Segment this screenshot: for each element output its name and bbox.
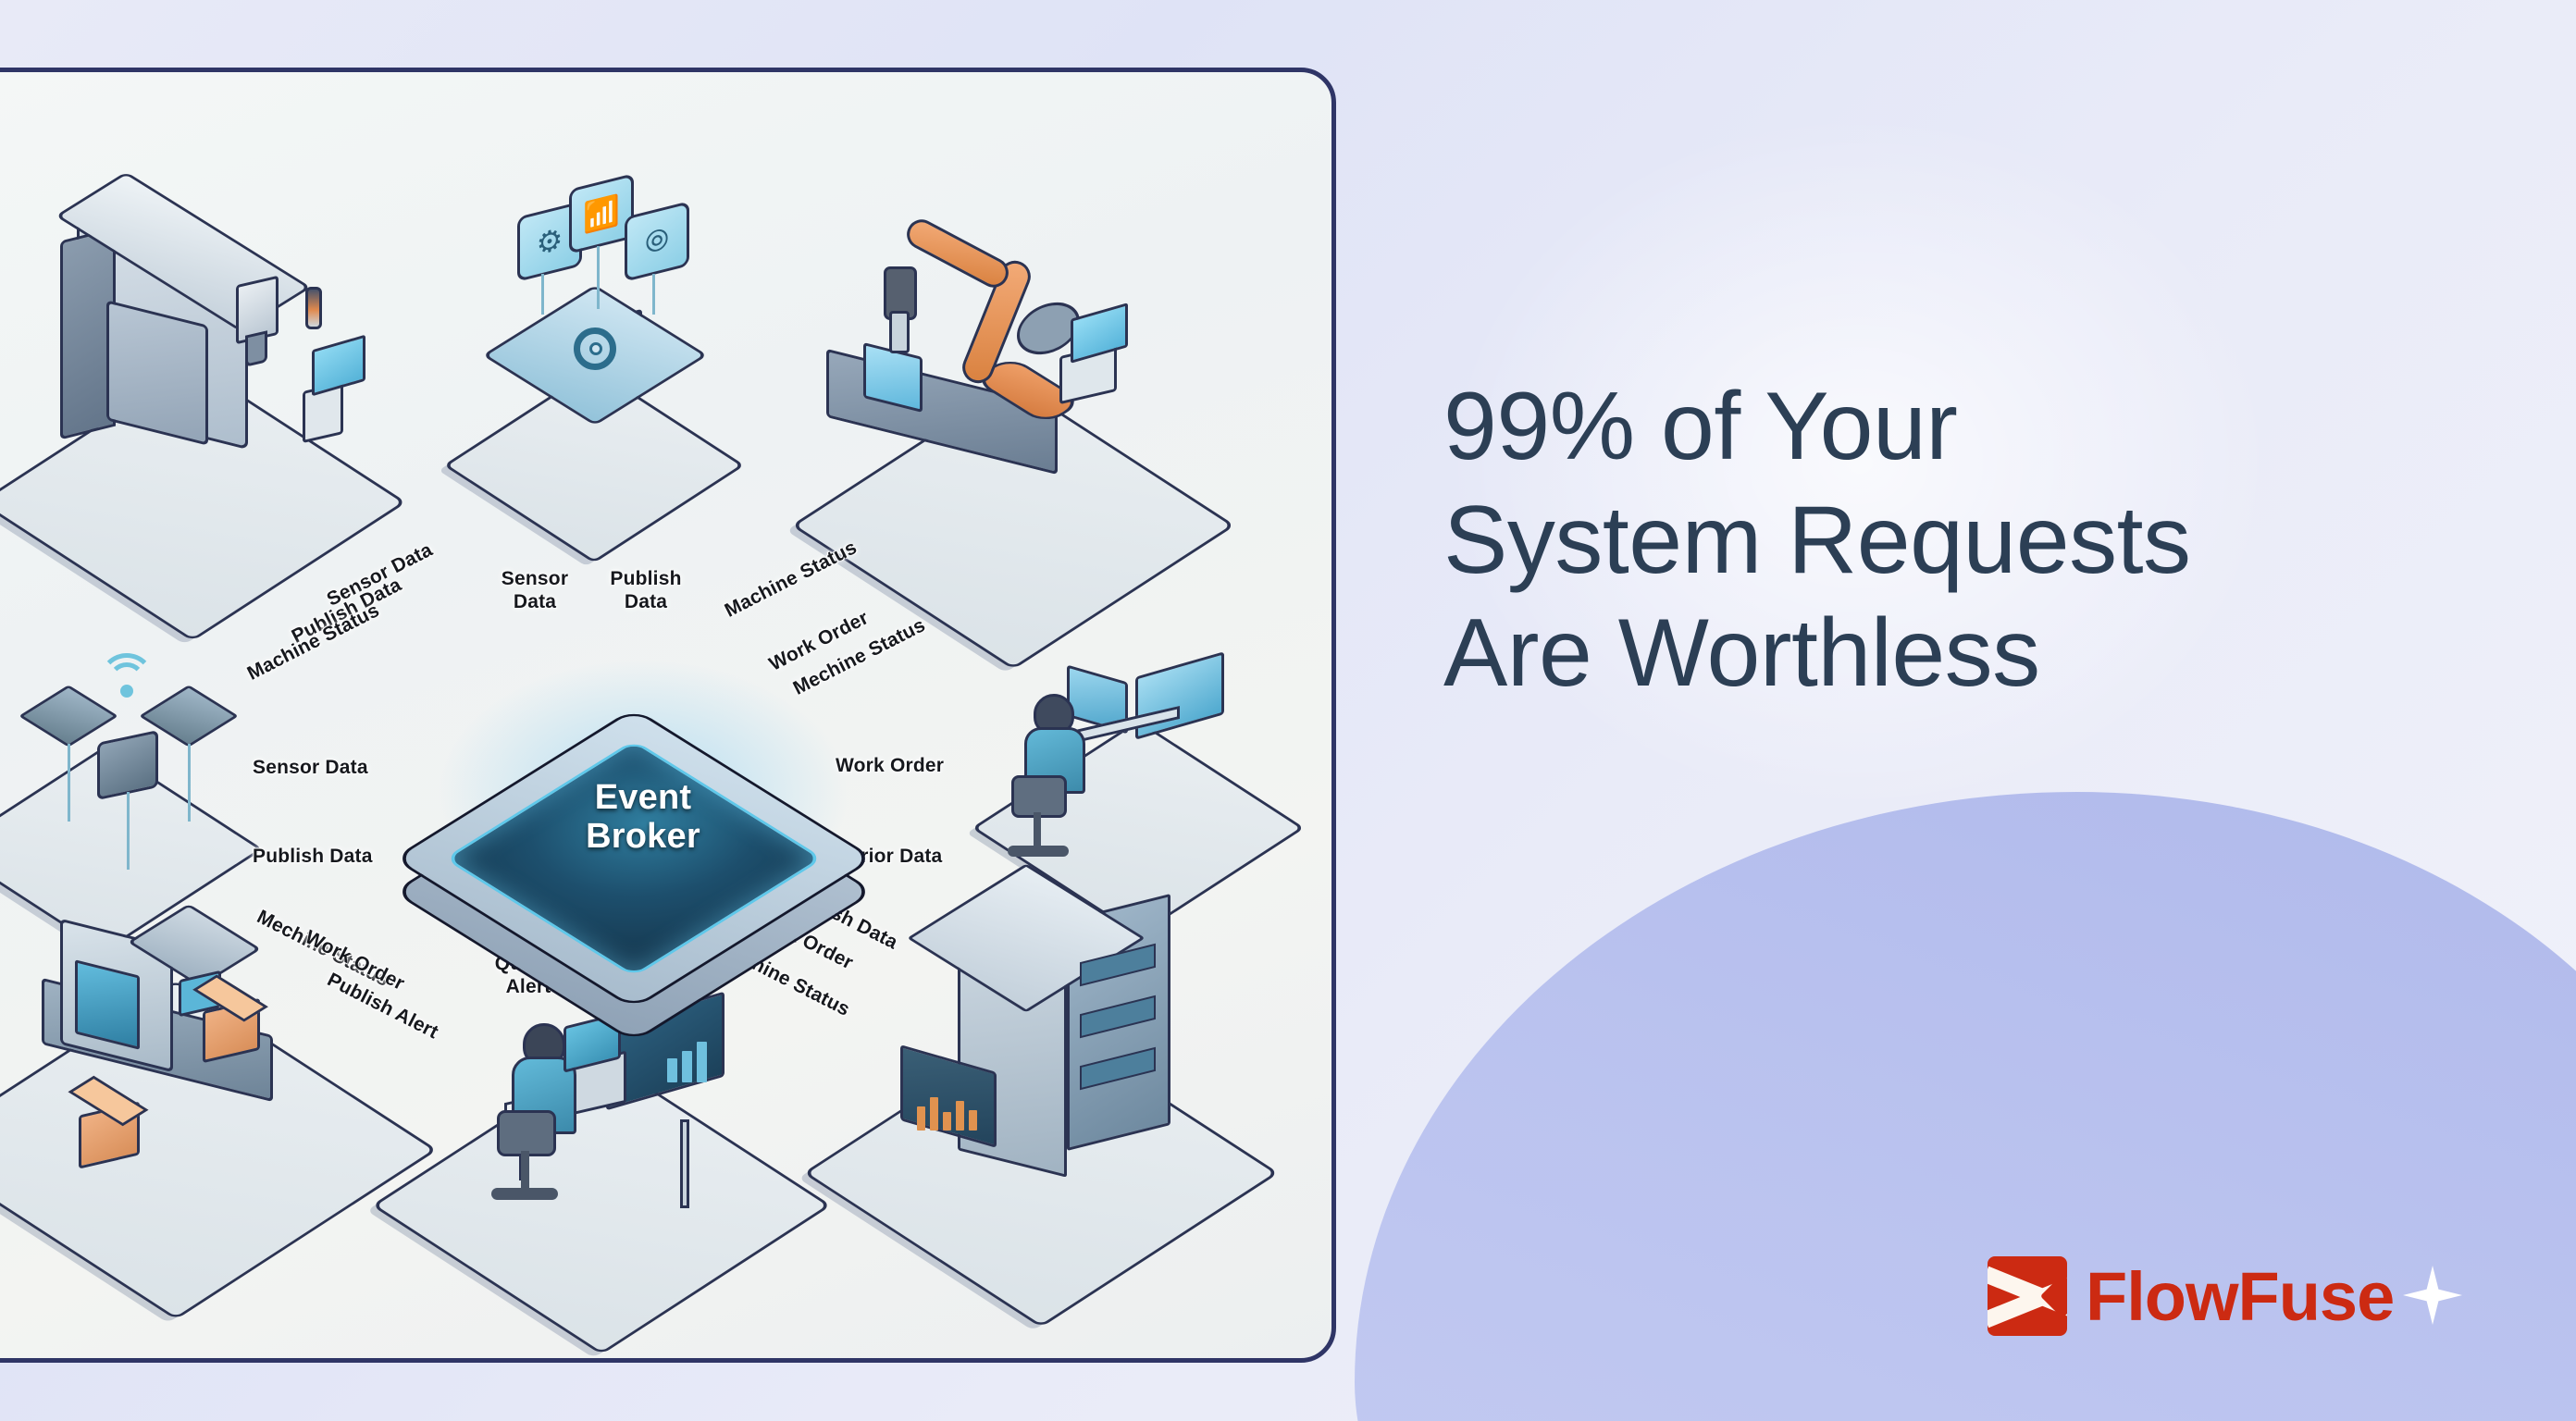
- page-title: 99% of Your System Requests Are Worthles…: [1443, 370, 2535, 710]
- brand-name: FlowFuse: [2086, 1257, 2394, 1336]
- flow-arrow-ml-1: [188, 783, 430, 792]
- flow-arrow-ml-2: [197, 833, 436, 842]
- event-broker-label-line2: Broker: [449, 818, 837, 857]
- event-broker-node: Event Broker: [449, 664, 837, 942]
- flowfuse-logo-mark-icon: [1988, 1256, 2067, 1336]
- flow-label-tc-1: Sensor Data: [486, 568, 584, 614]
- flow-label-ml-2: Publish Data: [253, 846, 373, 868]
- headline-line-1: 99% of Your: [1443, 370, 2535, 484]
- brand-logo: FlowFuse: [1988, 1256, 2394, 1336]
- flow-label-tc-2: Publish Data: [597, 568, 695, 614]
- illustration-panel: ⚙ 📶 ⦾: [0, 68, 1336, 1363]
- flow-label-tl-3: Machine Status: [244, 599, 384, 686]
- flow-label-ml-1: Sensor Data: [253, 757, 368, 779]
- flow-label-tr-1: Machine Status: [722, 537, 861, 623]
- event-broker-label-line1: Event: [449, 779, 837, 818]
- slide-canvas: ⚙ 📶 ⦾: [0, 0, 2576, 1421]
- headline-line-2: System Requests: [1443, 484, 2535, 598]
- network-icon: ⦾: [625, 201, 689, 281]
- headline-line-3: Are Worthless: [1443, 597, 2535, 710]
